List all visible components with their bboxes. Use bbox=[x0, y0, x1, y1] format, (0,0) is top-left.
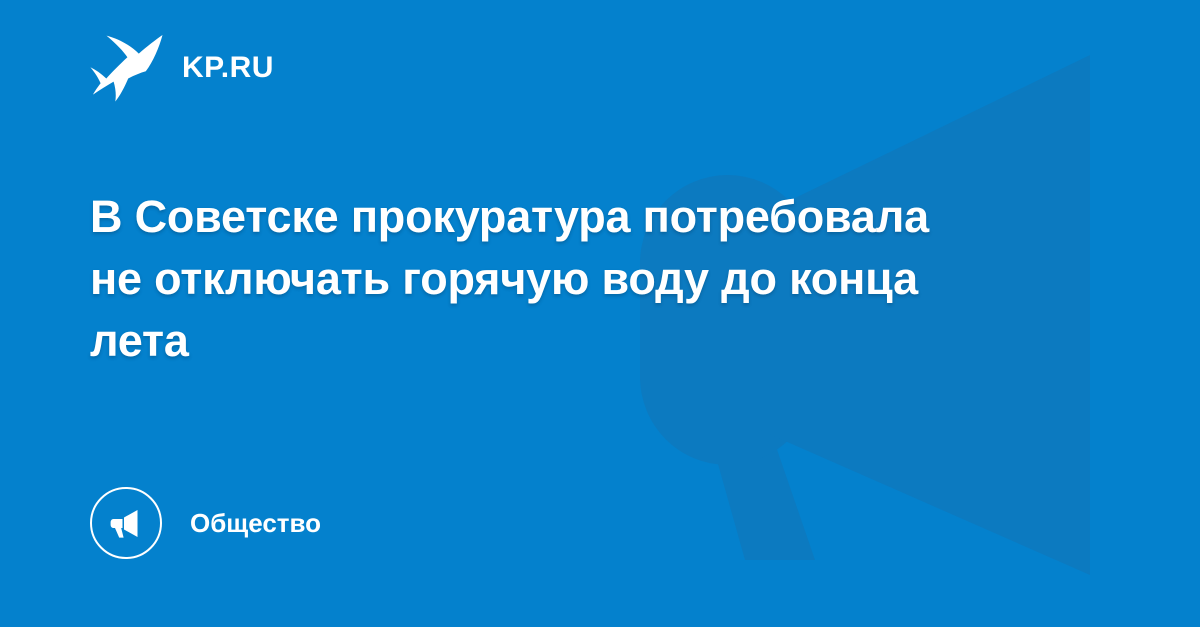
megaphone-icon bbox=[106, 503, 146, 543]
category-label: Общество bbox=[190, 510, 321, 536]
brand-logo[interactable]: KP.RU bbox=[90, 33, 274, 103]
article-share-card: KP.RU В Советске прокуратура потребовала… bbox=[0, 0, 1200, 630]
category-icon-circle bbox=[90, 487, 162, 559]
brand-name: KP.RU bbox=[182, 53, 274, 83]
page-title: В Советске прокуратура потребовала не от… bbox=[90, 186, 990, 372]
category-badge[interactable]: Общество bbox=[90, 486, 321, 560]
swallow-bird-icon bbox=[90, 33, 164, 103]
